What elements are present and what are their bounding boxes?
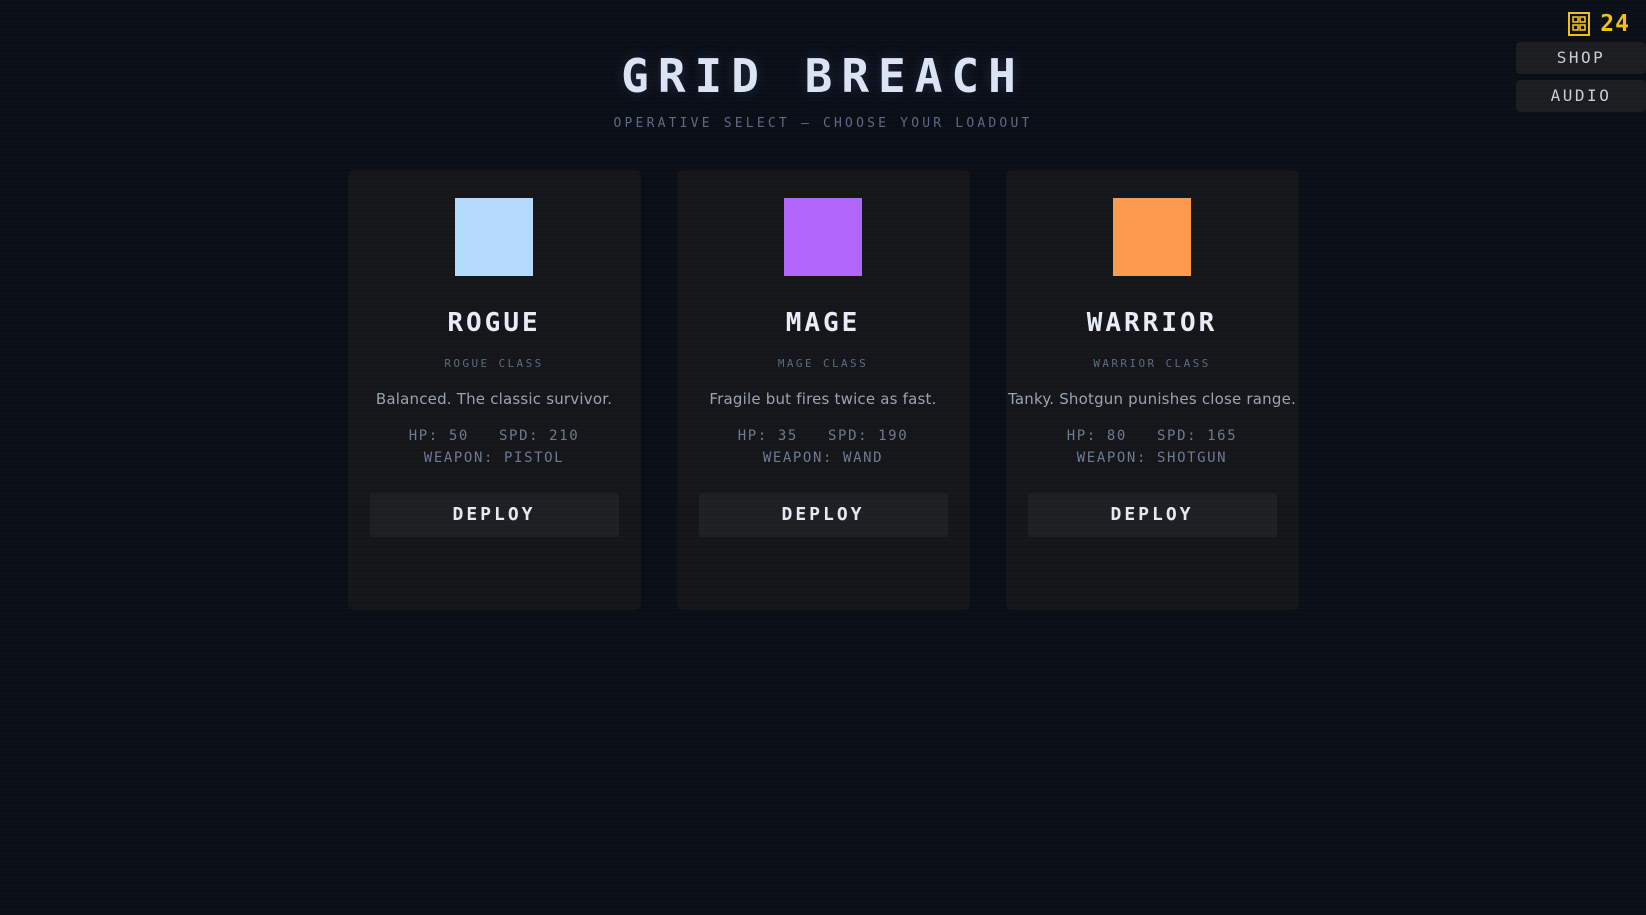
character-weapon-line: WEAPON: PISTOL <box>409 448 580 470</box>
shop-button[interactable]: SHOP <box>1516 42 1646 74</box>
character-description: Tanky. Shotgun punishes close range. <box>1008 390 1296 408</box>
character-description: Fragile but fires twice as fast. <box>709 390 936 408</box>
character-card-rogue[interactable]: ROGUE ROGUE CLASS Balanced. The classic … <box>348 170 641 610</box>
credits-amount: 24 <box>1600 13 1630 36</box>
character-select-row: ROGUE ROGUE CLASS Balanced. The classic … <box>0 170 1646 610</box>
character-weapon-line: WEAPON: SHOTGUN <box>1067 448 1238 470</box>
character-class-label: ROGUE CLASS <box>444 357 543 370</box>
character-description: Balanced. The classic survivor. <box>376 390 612 408</box>
character-avatar-swatch <box>784 198 862 276</box>
header: GRID BREACH OPERATIVE SELECT — CHOOSE YO… <box>0 0 1646 131</box>
deploy-button[interactable]: DEPLOY <box>699 493 948 537</box>
page-title: GRID BREACH <box>0 52 1646 100</box>
character-card-mage[interactable]: MAGE MAGE CLASS Fragile but fires twice … <box>677 170 970 610</box>
character-class-label: MAGE CLASS <box>778 357 868 370</box>
hud-panel: 24 SHOP AUDIO <box>1406 0 1646 118</box>
character-card-warrior[interactable]: WARRIOR WARRIOR CLASS Tanky. Shotgun pun… <box>1006 170 1299 610</box>
character-name: MAGE <box>786 310 861 336</box>
character-stats: HP: 80 SPD: 165 WEAPON: SHOTGUN <box>1067 426 1238 469</box>
deploy-button[interactable]: DEPLOY <box>370 493 619 537</box>
character-name: ROGUE <box>447 310 540 336</box>
page-subtitle: OPERATIVE SELECT — CHOOSE YOUR LOADOUT <box>0 116 1646 131</box>
character-stats: HP: 50 SPD: 210 WEAPON: PISTOL <box>409 426 580 469</box>
credits-chip-icon <box>1568 12 1590 36</box>
audio-button[interactable]: AUDIO <box>1516 80 1646 112</box>
character-stat-line: HP: 35 SPD: 190 <box>738 426 909 448</box>
credits-display: 24 <box>1568 0 1646 42</box>
character-stat-line: HP: 80 SPD: 165 <box>1067 426 1238 448</box>
character-stat-line: HP: 50 SPD: 210 <box>409 426 580 448</box>
character-weapon-line: WEAPON: WAND <box>738 448 909 470</box>
character-stats: HP: 35 SPD: 190 WEAPON: WAND <box>738 426 909 469</box>
character-avatar-swatch <box>1113 198 1191 276</box>
deploy-button[interactable]: DEPLOY <box>1028 493 1277 537</box>
character-avatar-swatch <box>455 198 533 276</box>
character-name: WARRIOR <box>1087 310 1218 336</box>
character-class-label: WARRIOR CLASS <box>1093 357 1210 370</box>
